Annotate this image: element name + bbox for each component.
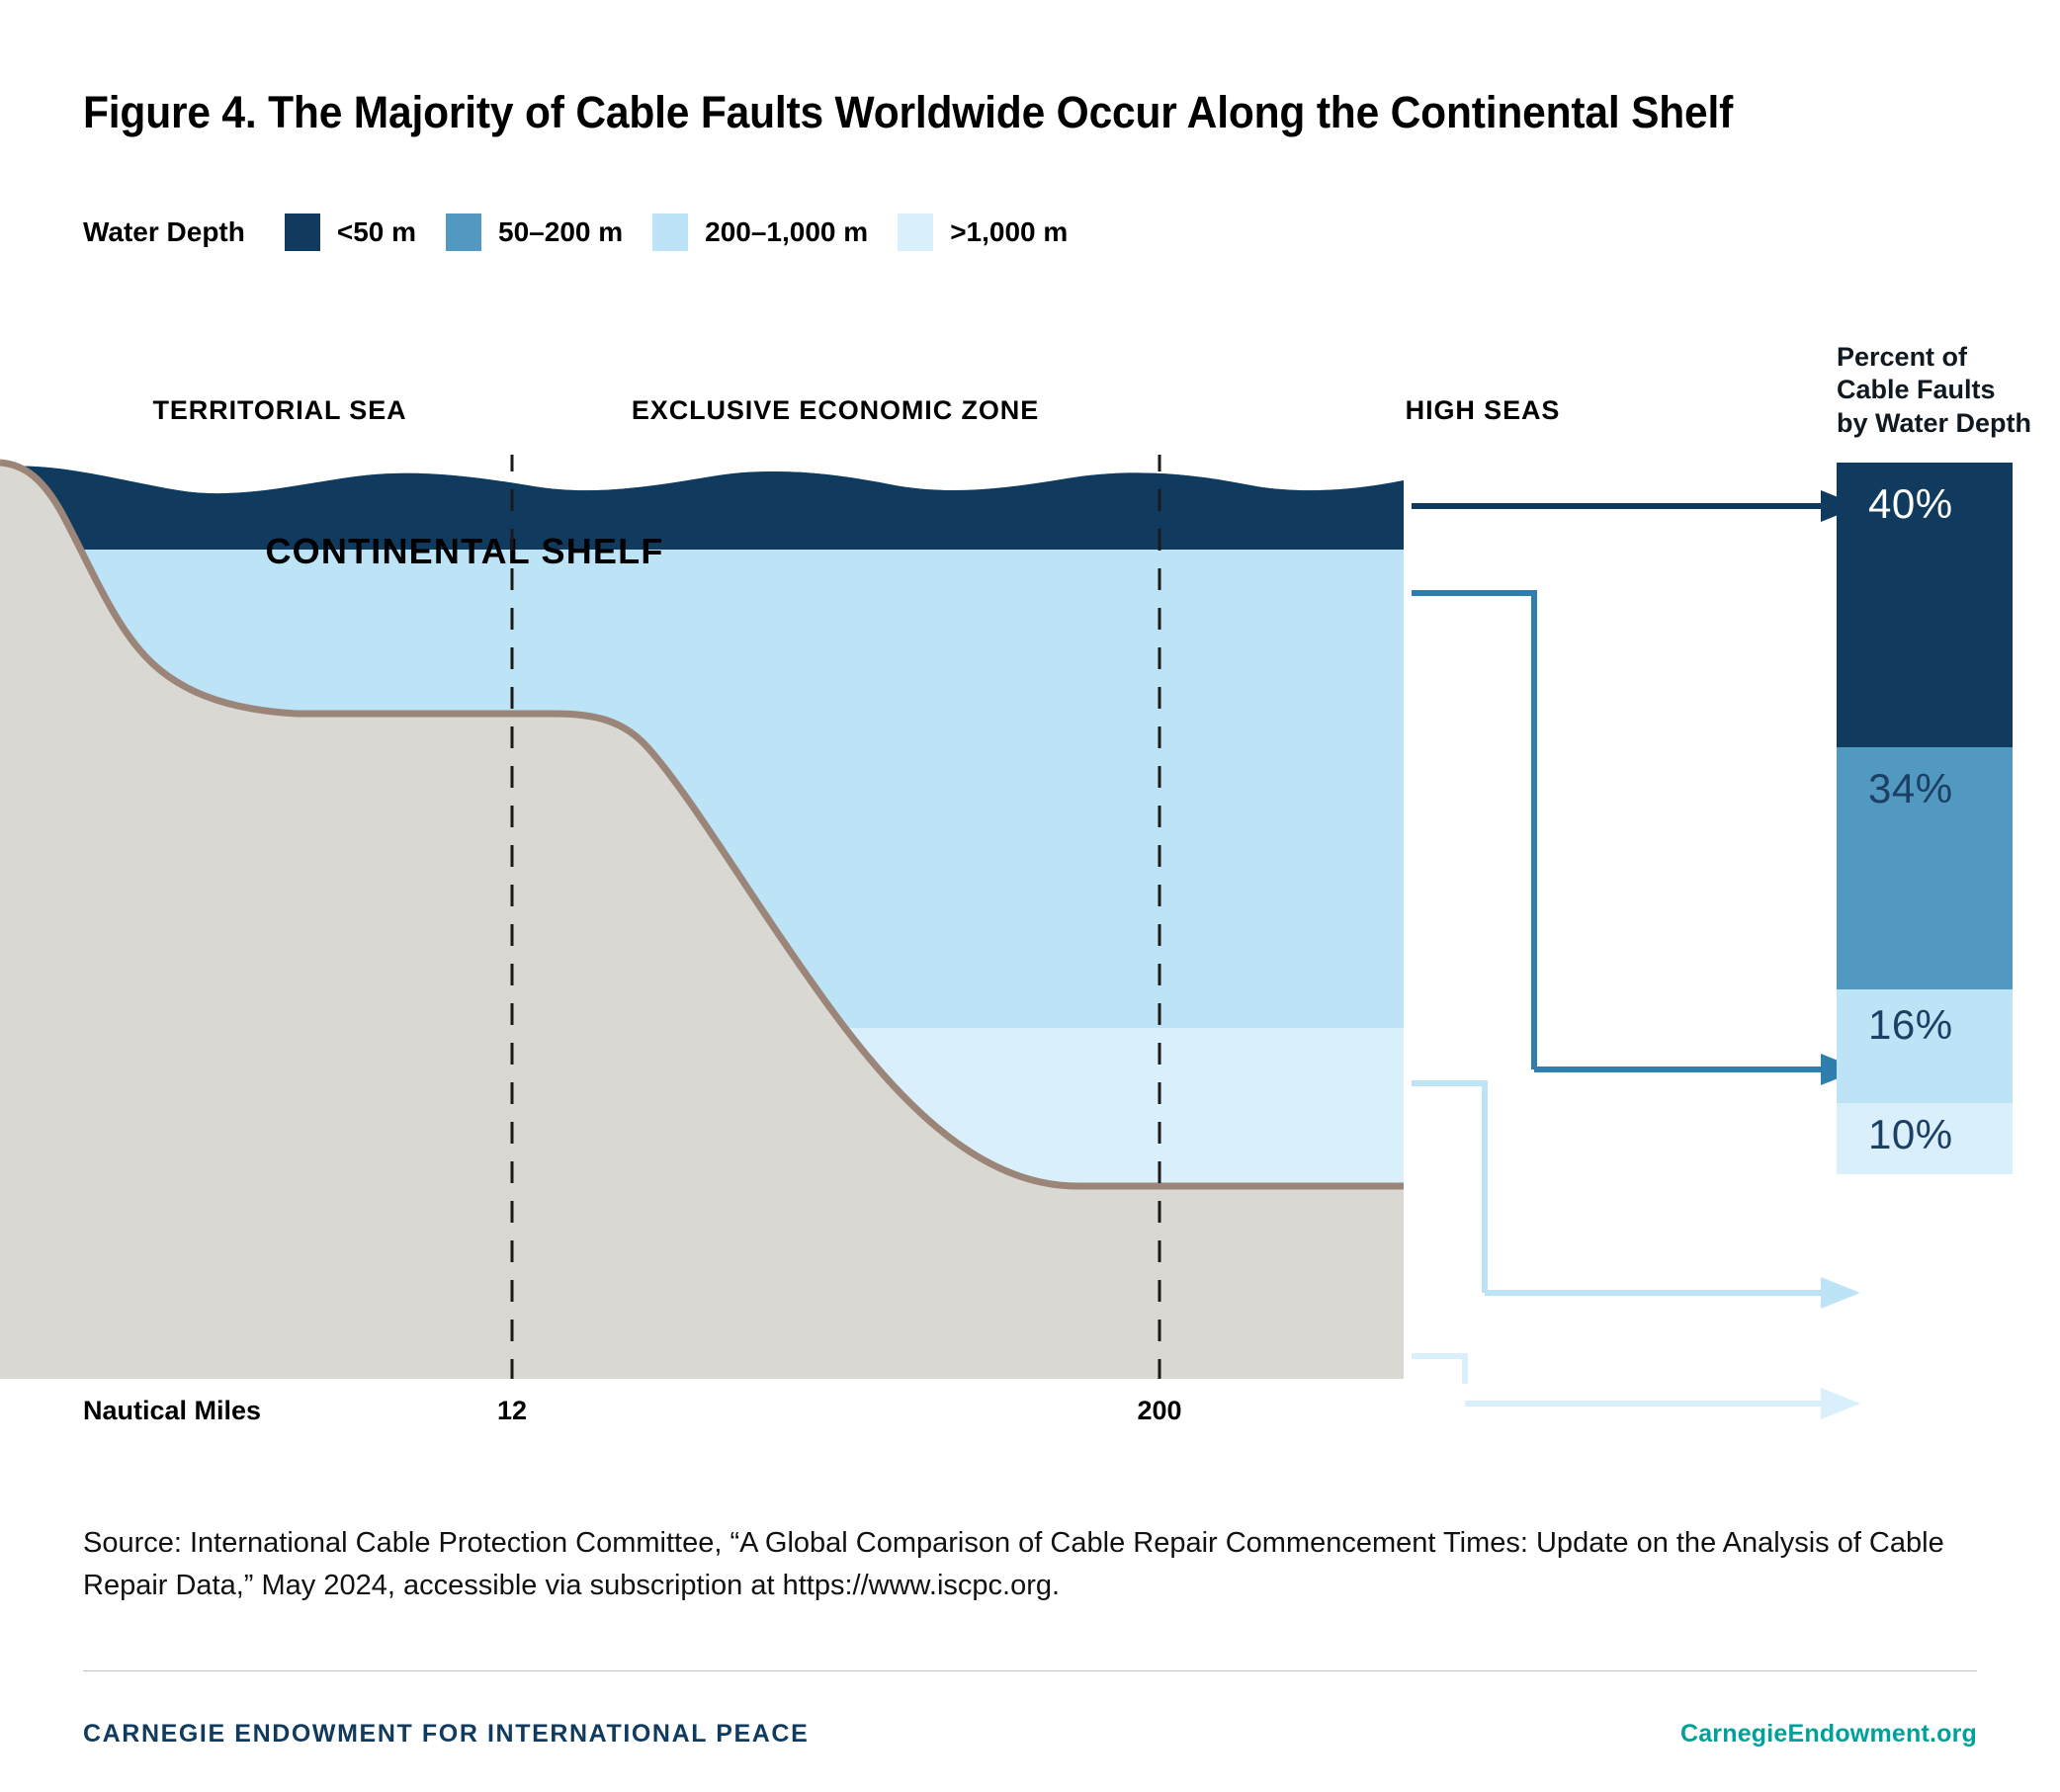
panel-header-line-3: by Water Depth [1837, 407, 2060, 440]
panel-header-line-2: Cable Faults [1837, 374, 2060, 406]
legend-item-lt50: <50 m [285, 213, 416, 251]
footer-organization: CARNEGIE ENDOWMENT FOR INTERNATIONAL PEA… [83, 1720, 809, 1749]
legend-swatch-gt1000 [898, 213, 933, 251]
bar-segment-50-200: 34% [1837, 747, 2013, 989]
connector-arrow-lt50 [1412, 490, 1860, 522]
legend-swatch-200-1000 [652, 213, 688, 251]
legend: Water Depth <50 m 50–200 m 200–1,000 m >… [83, 213, 1097, 252]
legend-label-gt1000: >1,000 m [950, 216, 1068, 248]
bar-label-200-1000: 16% [1868, 1001, 1953, 1049]
continental-shelf-label: CONTINENTAL SHELF [265, 531, 663, 571]
axis-tick-12: 12 [497, 1396, 527, 1426]
bar-label-lt50: 40% [1868, 480, 1953, 528]
panel-header: Percent of Cable Faults by Water Depth [1837, 341, 2060, 440]
footer-website-link[interactable]: CarnegieEndowment.org [1680, 1720, 1977, 1749]
legend-label-50-200: 50–200 m [498, 216, 623, 248]
zone-label-territorial-sea: TERRITORIAL SEA [152, 395, 406, 426]
axis-tick-200: 200 [1137, 1396, 1181, 1426]
bar-segment-gt1000: 10% [1837, 1103, 2013, 1174]
legend-item-gt1000: >1,000 m [898, 213, 1068, 251]
connector-arrow-gt1000-tail [1443, 1374, 1878, 1433]
page-title: Figure 4. The Majority of Cable Faults W… [83, 87, 1914, 138]
legend-swatch-lt50 [285, 213, 320, 251]
ocean-cross-section-diagram: CONTINENTAL SHELF [0, 455, 2060, 1384]
zone-label-eez: EXCLUSIVE ECONOMIC ZONE [632, 395, 1039, 426]
bar-segment-lt50: 40% [1837, 463, 2013, 747]
bar-label-50-200: 34% [1868, 765, 1953, 812]
footer-divider [83, 1670, 1977, 1671]
connector-arrow-200-1000 [1412, 1083, 1860, 1309]
water-band-lt50 [0, 466, 1404, 550]
bar-segment-200-1000: 16% [1837, 989, 2013, 1103]
legend-title: Water Depth [83, 216, 245, 248]
legend-swatch-50-200 [446, 213, 481, 251]
source-note: Source: International Cable Protection C… [83, 1522, 1961, 1607]
axis-title-nautical-miles: Nautical Miles [83, 1396, 261, 1426]
legend-item-200-1000: 200–1,000 m [652, 213, 868, 251]
percent-fault-bar: 40% 34% 16% 10% [1837, 463, 2013, 1174]
bar-label-gt1000: 10% [1868, 1111, 1953, 1158]
panel-header-line-1: Percent of [1837, 341, 2060, 374]
legend-label-200-1000: 200–1,000 m [705, 216, 868, 248]
connector-arrow-50-200 [1412, 593, 1860, 1085]
legend-item-50-200: 50–200 m [446, 213, 623, 251]
legend-label-lt50: <50 m [337, 216, 416, 248]
zone-label-high-seas: HIGH SEAS [1406, 395, 1561, 426]
